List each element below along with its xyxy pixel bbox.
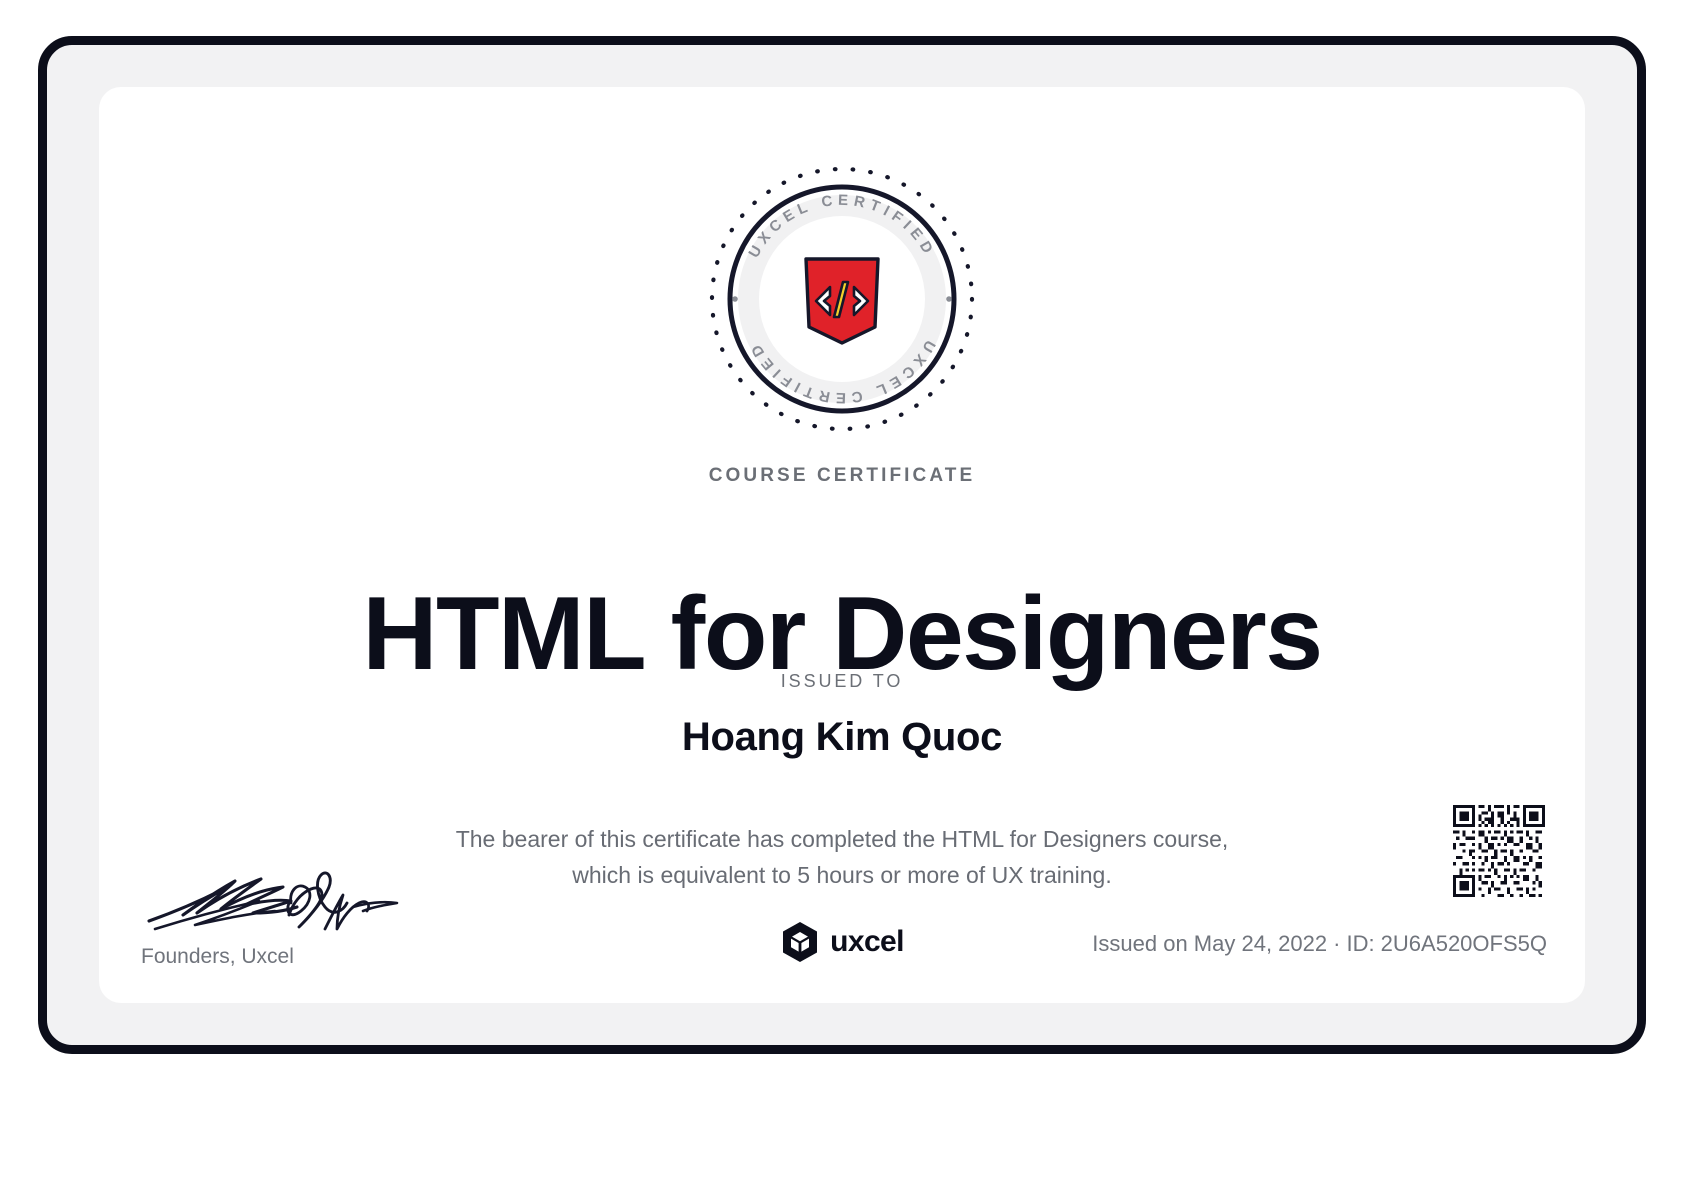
founders-signatures-icon [139, 859, 439, 937]
uxcel-hexagon-cube-icon [780, 921, 820, 963]
certificate-panel: UXCEL CERTIFIED UXCEL CERTIFIED [99, 87, 1585, 1003]
uxcel-wordmark: uxcel [830, 925, 904, 959]
html-code-shield-icon [806, 259, 878, 343]
uxcel-brand-logo: uxcel [734, 921, 950, 963]
recipient-name: Hoang Kim Quoc [99, 715, 1585, 760]
meta-separator: · [1327, 931, 1346, 956]
uxcel-certified-badge: UXCEL CERTIFIED UXCEL CERTIFIED [708, 165, 976, 433]
signature-block: Founders, Uxcel [137, 859, 497, 969]
issued-to-label: ISSUED TO [99, 671, 1585, 692]
signature-caption: Founders, Uxcel [141, 945, 497, 969]
certificate-footer: Founders, Uxcel uxcel [137, 809, 1547, 969]
certificate-id: ID: 2U6A520OFS5Q [1346, 931, 1547, 956]
issued-on-date: Issued on May 24, 2022 [1092, 931, 1327, 956]
certificate-frame: UXCEL CERTIFIED UXCEL CERTIFIED [38, 36, 1646, 1054]
issue-metadata: Issued on May 24, 2022·ID: 2U6A520OFS5Q [1092, 931, 1547, 957]
verification-qr-code[interactable] [1453, 805, 1545, 897]
course-certificate-kicker: COURSE CERTIFICATE [99, 465, 1585, 487]
